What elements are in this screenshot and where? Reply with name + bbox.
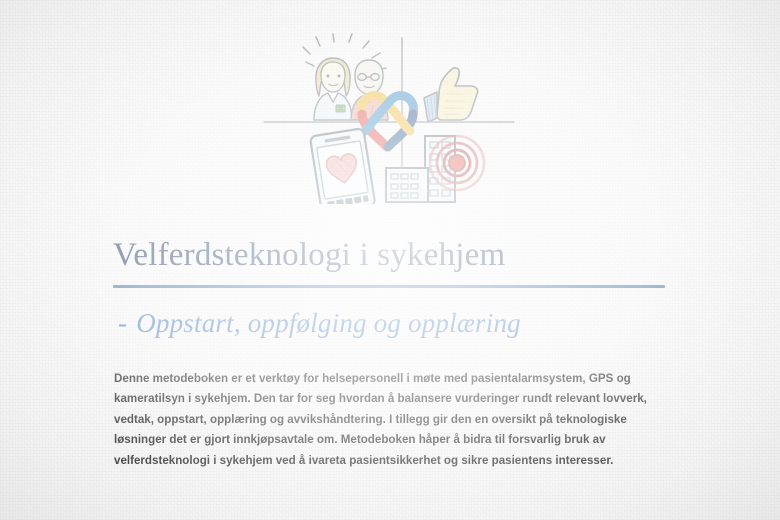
slide-body-paragraph: Denne metodeboken er et verktøy for hels…: [114, 369, 665, 472]
smartphone-heart-icon: [310, 128, 376, 204]
thumbs-up-icon: [424, 68, 478, 122]
building-signal-icon: [386, 136, 484, 202]
title-underline-rule: [113, 285, 665, 288]
slide-subtitle: -Oppstart, oppfølging og opplæring: [118, 308, 738, 339]
two-people-icon: [303, 34, 388, 120]
subtitle-text: Oppstart, oppfølging og opplæring: [136, 308, 521, 338]
slide-title: Velferdsteknologi i sykehjem: [113, 237, 713, 275]
subtitle-dash: -: [118, 308, 127, 338]
welfare-technology-quadrant-illustration: [258, 32, 524, 204]
slide-canvas: Velferdsteknologi i sykehjem -Oppstart, …: [0, 0, 780, 520]
slide-content: Velferdsteknologi i sykehjem -Oppstart, …: [0, 0, 780, 520]
